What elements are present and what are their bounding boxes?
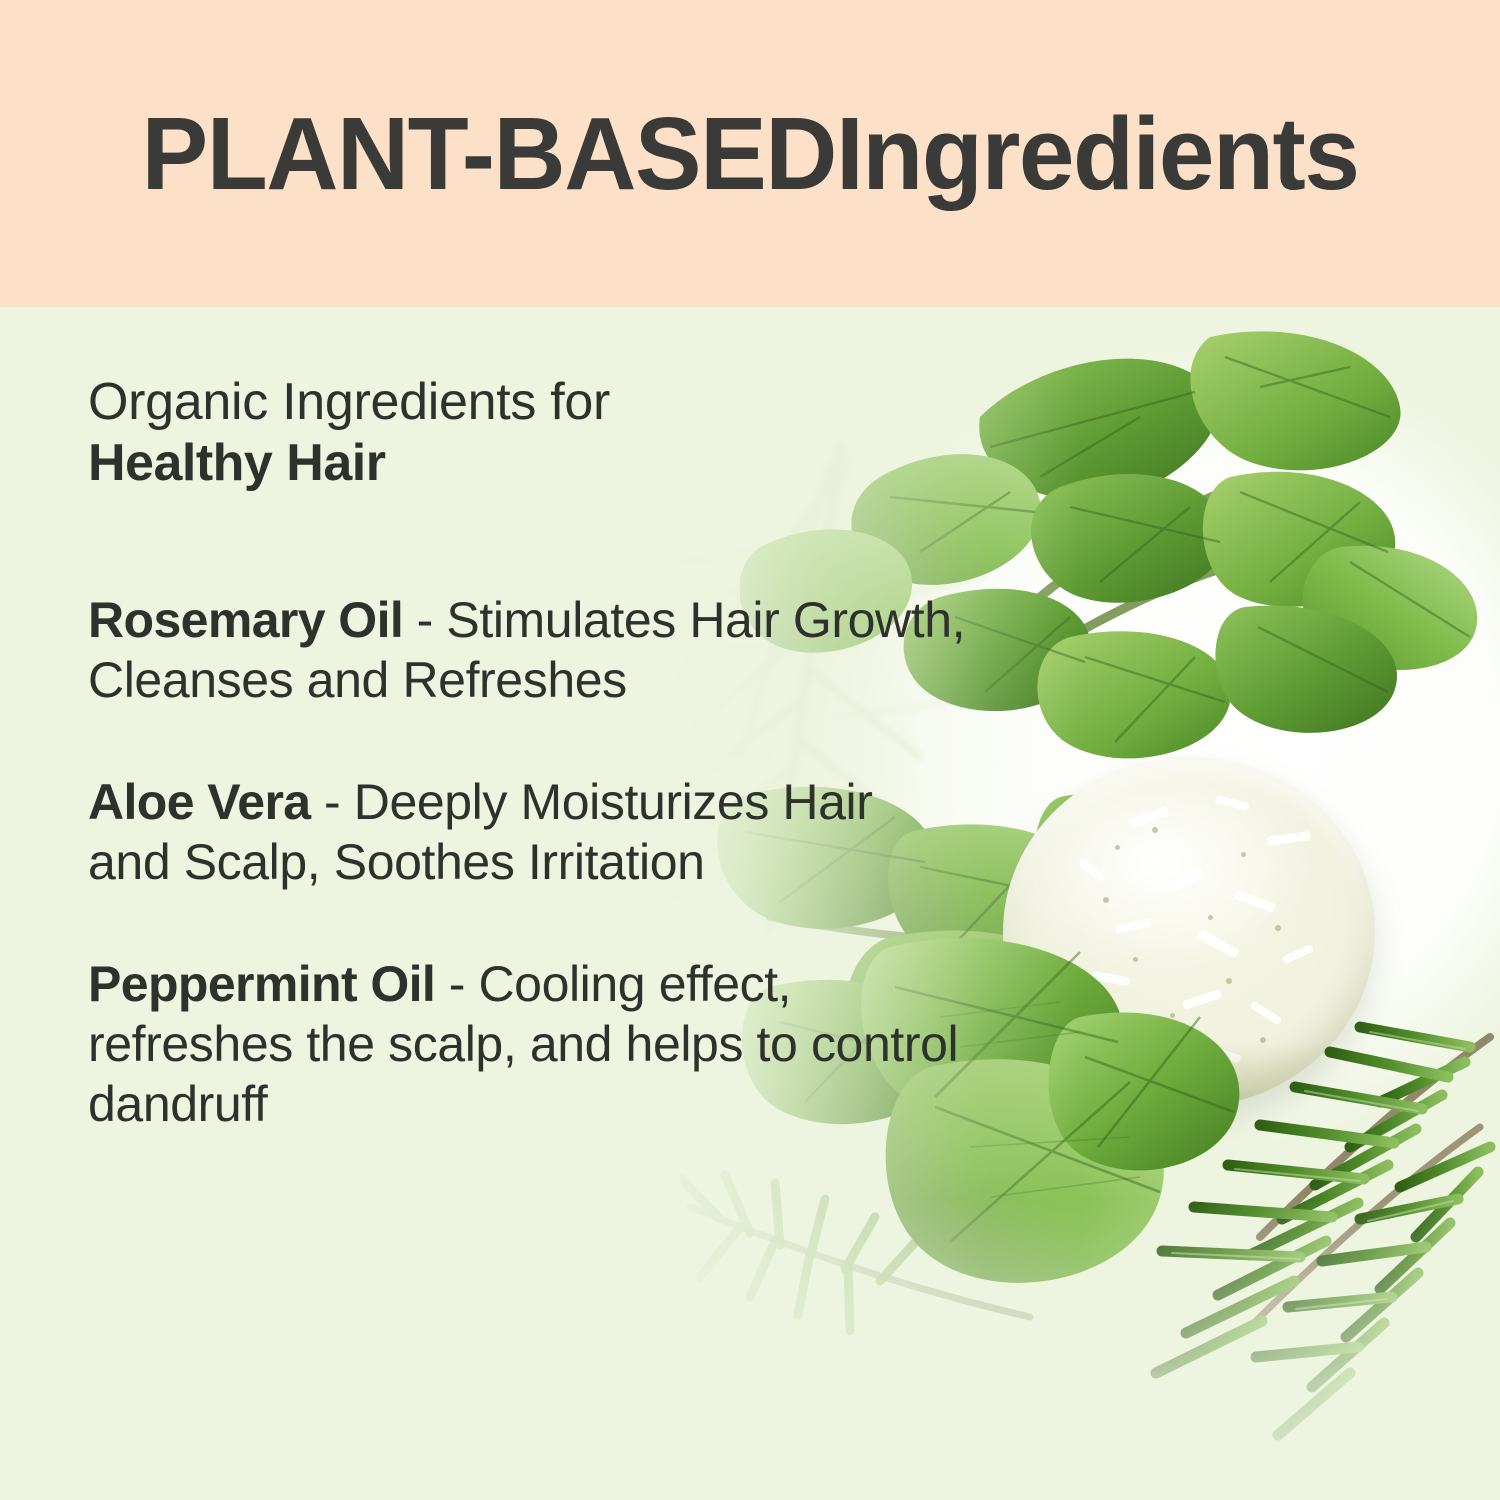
plant-based-ingredients-infographic: PLANT-BASED Ingredients Organic Ingredie… <box>0 0 1500 1500</box>
ingredient-name: Aloe Vera <box>88 774 311 830</box>
subtitle: Organic Ingredients for Healthy Hair <box>88 372 988 494</box>
ingredient-separator: - <box>311 774 354 830</box>
ingredient-separator: - <box>403 592 446 648</box>
header-band: PLANT-BASED Ingredients <box>0 0 1500 307</box>
page-title-tail: Ingredients <box>836 102 1358 205</box>
ingredients-text-column: Organic Ingredients for Healthy Hair Ros… <box>88 307 988 1134</box>
ingredient-name: Rosemary Oil <box>88 592 403 648</box>
ingredient-item-peppermint-oil: Peppermint Oil - Cooling effect, refresh… <box>88 954 968 1134</box>
ingredient-item-rosemary-oil: Rosemary Oil - Stimulates Hair Growth, C… <box>88 590 968 710</box>
ingredient-item-aloe-vera: Aloe Vera - Deeply Moisturizes Hair and … <box>88 772 968 892</box>
ingredient-name: Peppermint Oil <box>88 956 435 1012</box>
ingredient-separator: - <box>435 956 478 1012</box>
subtitle-line-2: Healthy Hair <box>88 433 988 494</box>
subtitle-line-1: Organic Ingredients for <box>88 373 610 431</box>
page-title-lead: PLANT-BASED <box>142 102 836 205</box>
page-title: PLANT-BASED Ingredients <box>23 0 1478 307</box>
rosemary-sprig-icon <box>1060 1007 1500 1467</box>
